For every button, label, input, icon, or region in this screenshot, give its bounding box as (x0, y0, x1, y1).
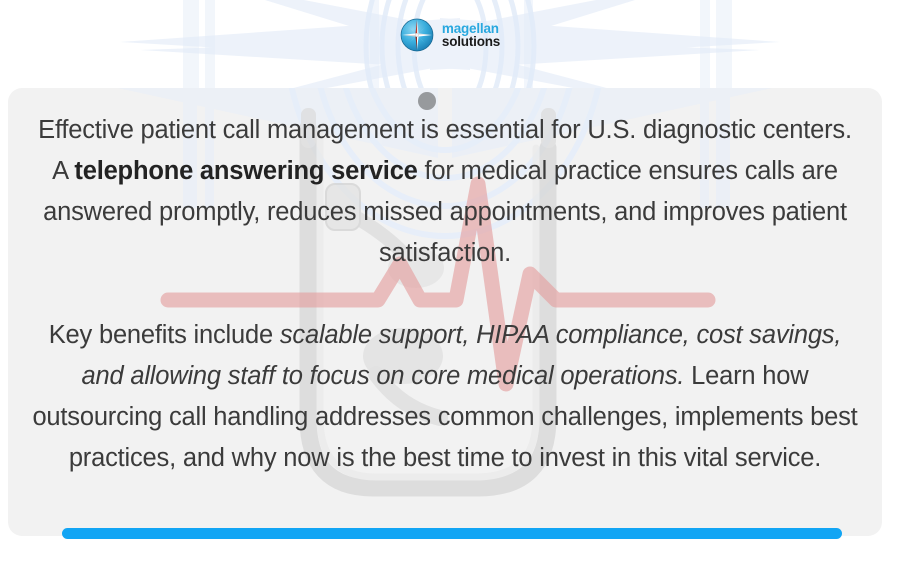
paragraph-two: Key benefits include scalable support, H… (28, 315, 862, 479)
brand-name-magellan: magellan (442, 22, 500, 36)
paragraph-two-part-1: Key benefits include (49, 321, 280, 349)
paragraph-gap (28, 274, 862, 315)
accent-progress-bar (62, 528, 842, 539)
content-card: Effective patient call management is ess… (8, 88, 882, 536)
paragraph-one-bold-phrase: telephone answering service (74, 157, 417, 185)
brand-wordmark: magellan solutions (442, 22, 500, 49)
paragraph-one: Effective patient call management is ess… (28, 110, 862, 274)
brand-logo: magellan solutions (0, 18, 900, 52)
brand-name-solutions: solutions (442, 35, 500, 49)
compass-rose-icon (400, 18, 434, 52)
card-body-text: Effective patient call management is ess… (8, 88, 882, 479)
